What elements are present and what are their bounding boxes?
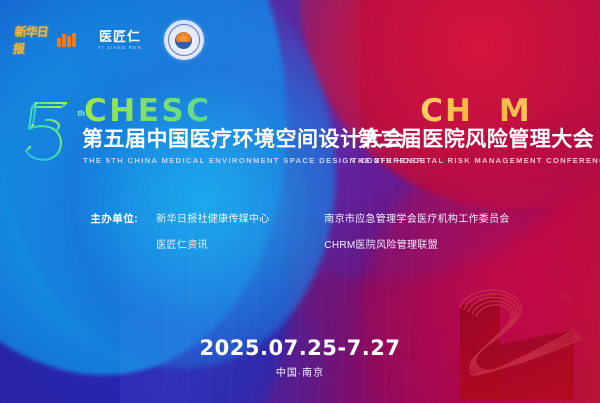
chrm-title-en: THE 2TH HOSPITAL RISK MANAGEMENT CONFERE… [352, 156, 600, 165]
edition-ordinal-th: th [77, 109, 85, 118]
sponsor-logo-row: 新华日报 医匠仁 YI JIANG REN [14, 20, 204, 60]
event-date: 2025.07.25-7.27 [0, 336, 600, 360]
organizers-section: 主办单位: 新华日报社健康传媒中心 医匠仁资讯 南京市应急管理学会医疗机构工作委… [0, 210, 600, 251]
organizer-item: 南京市应急管理学会医疗机构工作委员会 [324, 210, 509, 225]
chesc-acronym: CHESC [84, 96, 352, 127]
chrm-acronym-part2: M [499, 93, 532, 129]
chrm-title-cn: 第二届医院风险管理大会 [352, 129, 600, 152]
chesc-title-cn: 第五届中国医疗环境空间设计大会 [82, 129, 352, 152]
xinhua-daily-logo-text: 新华日报 [12, 23, 57, 57]
organizers-inner: 主办单位: 新华日报社健康传媒中心 医匠仁资讯 南京市应急管理学会医疗机构工作委… [90, 210, 509, 251]
xinhua-daily-bars-icon [57, 33, 76, 47]
conference-poster: th 新华日报 医匠仁 YI JIANG REN [0, 0, 600, 403]
organizer-item: 新华日报社健康传媒中心 [156, 210, 306, 225]
chrm-acronym-flipped-r: R [473, 96, 499, 127]
organizers-label: 主办单位: [90, 210, 138, 226]
svg-text:th: th [561, 293, 570, 303]
organizers-column-1: 新华日报社健康传媒中心 医匠仁资讯 [156, 210, 306, 251]
chrm-acronym: CHRM [352, 96, 600, 127]
organizer-item: 医匠仁资讯 [156, 236, 306, 251]
association-seal-emblem-icon [175, 32, 192, 49]
edition-number-5-icon: th [16, 99, 76, 165]
organizer-item: CHRM医院风险管理联盟 [324, 236, 509, 251]
background-blob-lower-blue [0, 250, 340, 403]
chesc-title-en: THE 5TH CHINA MEDICAL ENVIRONMENT SPACE … [83, 156, 352, 165]
conference-titles: th CHESC 第五届中国医疗环境空间设计大会 THE 5TH CHINA M… [0, 96, 600, 182]
chrm-conference-block: CHRM 第二届医院风险管理大会 THE 2TH HOSPITAL RISK M… [352, 96, 600, 182]
chrm-acronym-part1: CH [420, 93, 473, 129]
yijiangren-logo-pinyin: YI JIANG REN [98, 46, 142, 51]
chesc-text-group: CHESC 第五届中国医疗环境空间设计大会 THE 5TH CHINA MEDI… [78, 96, 352, 165]
organizers-column-2: 南京市应急管理学会医疗机构工作委员会 CHRM医院风险管理联盟 [324, 210, 509, 251]
event-city: 中国·南京 [0, 364, 600, 379]
chesc-conference-block: th CHESC 第五届中国医疗环境空间设计大会 THE 5TH CHINA M… [0, 96, 352, 182]
yijiangren-logo: 医匠仁 YI JIANG REN [98, 30, 142, 51]
xinhua-daily-logo: 新华日报 [14, 29, 76, 51]
association-seal-logo [164, 20, 204, 60]
yijiangren-logo-text: 医匠仁 [98, 30, 142, 43]
